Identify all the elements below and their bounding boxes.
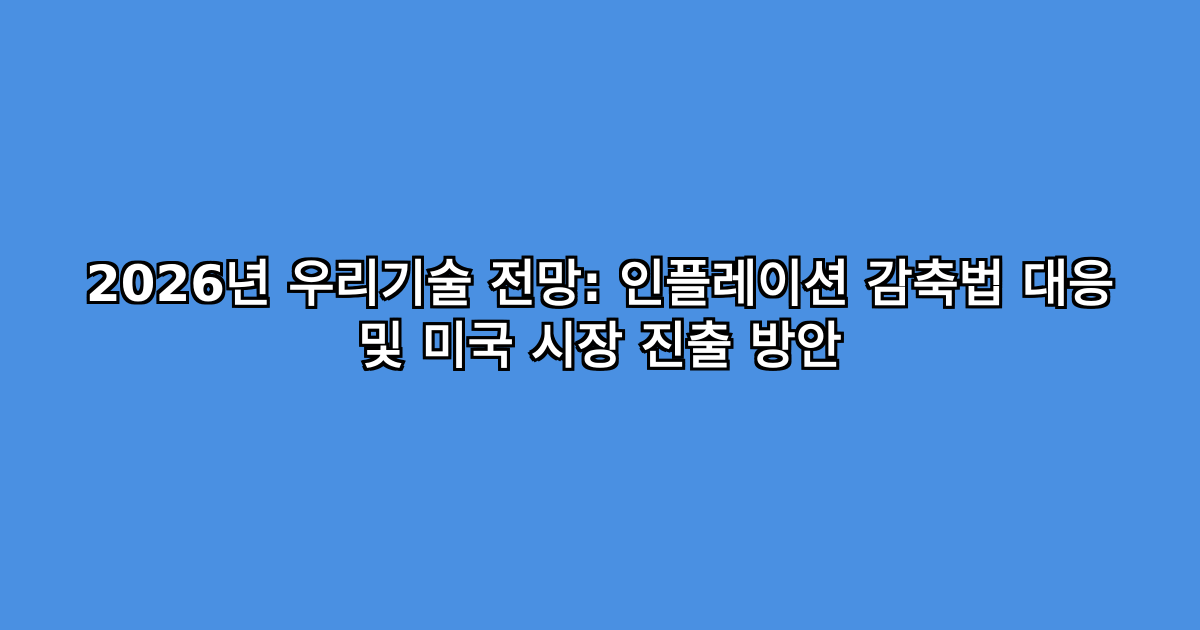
og-share-card: 2026년 우리기술 전망: 인플레이션 감축법 대응 및 미국 시장 진출 방… [0, 0, 1200, 630]
page-title: 2026년 우리기술 전망: 인플레이션 감축법 대응 및 미국 시장 진출 방… [65, 253, 1135, 377]
title-block: 2026년 우리기술 전망: 인플레이션 감축법 대응 및 미국 시장 진출 방… [55, 253, 1145, 377]
